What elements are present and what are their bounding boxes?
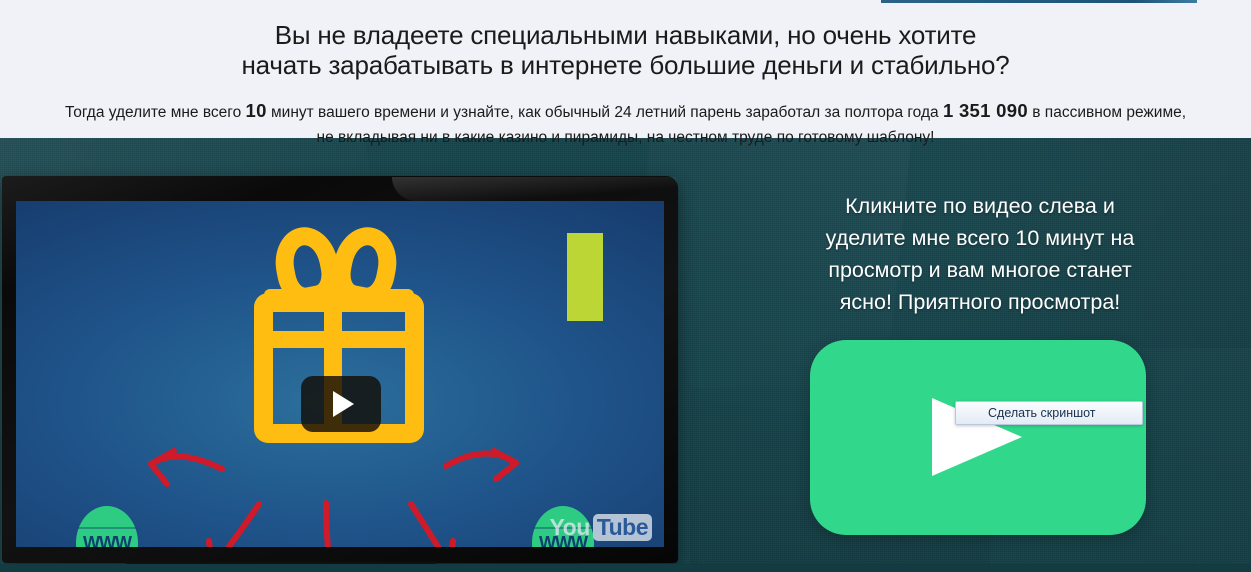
browser-chrome-edge [881,0,1197,3]
page-title: Вы не владеете специальными навыками, но… [0,17,1251,80]
cta-copy-line-1: Кликните по видео слева и [760,190,1200,222]
cta-copy-line-3: просмотр и вам многое станет [760,254,1200,286]
green-play-button[interactable] [810,340,1146,535]
page-bottom-edge [0,564,1251,572]
cta-copy: Кликните по видео слева и уделите мне вс… [760,190,1200,318]
screenshot-tooltip: Сделать скриншот [955,401,1143,425]
www-globe-label: WWW [539,533,587,548]
tv-bezel-highlight [392,177,677,201]
headline-line-1: Вы не владеете специальными навыками, но… [0,17,1251,50]
screenshot-tooltip-label: Сделать скриншот [956,406,1096,420]
subtitle-amount-value: 1 351 090 [943,100,1028,121]
subtitle-part-1: Тогда уделите мне всего [65,104,246,121]
red-arrows-group [16,201,664,547]
page-header: Вы не владеете специальными навыками, но… [0,0,1251,138]
tv-monitor: WWW WWW WWW WWW WWW YouTube [2,176,678,572]
headline-line-2: начать зарабатывать в интернете большие … [0,50,1251,80]
youtube-play-button[interactable] [301,376,381,432]
page-root: Вы не владеете специальными навыками, но… [0,0,1251,572]
subtitle-minutes-value: 10 [246,100,267,121]
play-triangle-icon [333,391,354,417]
page-subtitle: Тогда уделите мне всего 10 минут вашего … [61,98,1191,150]
video-thumbnail[interactable]: WWW WWW WWW WWW WWW YouTube [16,201,664,547]
subtitle-part-2: минут вашего времени и узнайте, как обыч… [267,104,943,121]
cta-copy-line-2: уделите мне всего 10 минут на [760,222,1200,254]
cta-copy-line-4: ясно! Приятного просмотра! [760,286,1200,318]
tv-bezel: WWW WWW WWW WWW WWW YouTube [2,176,678,563]
hero-section: WWW WWW WWW WWW WWW YouTube [0,138,1251,572]
youtube-logo-tube: Tube [593,514,652,541]
www-globe-label: WWW [83,533,131,548]
